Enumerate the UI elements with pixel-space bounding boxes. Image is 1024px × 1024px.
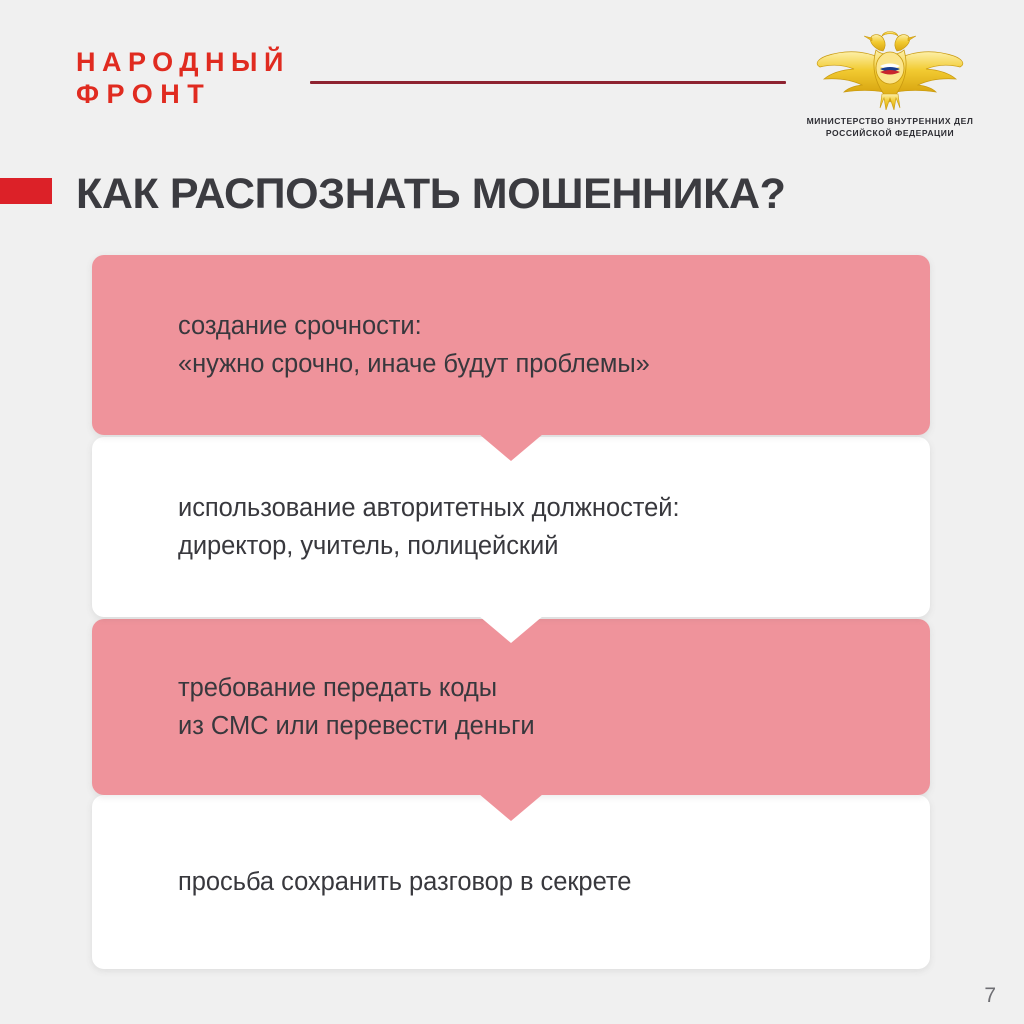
tip-card-1-text: создание срочности: «нужно срочно, иначе… (92, 307, 690, 384)
tips-card-stack: создание срочности: «нужно срочно, иначе… (0, 0, 1024, 1024)
tip-card-1-tail (479, 434, 543, 461)
tip-card-1[interactable]: создание срочности: «нужно срочно, иначе… (92, 255, 930, 435)
tip-card-2-text: использование авторитетных должностей: д… (92, 489, 720, 566)
tip-card-3[interactable]: требование передать коды из СМС или пере… (92, 619, 930, 795)
tip-card-3-tail (479, 794, 543, 821)
tip-card-3-text: требование передать коды из СМС или пере… (92, 669, 575, 746)
tip-card-2-tail (479, 616, 543, 643)
tip-card-4-text: просьба сохранить разговор в секрете (92, 863, 671, 901)
tip-card-4[interactable]: просьба сохранить разговор в секрете (92, 795, 930, 969)
tip-card-2[interactable]: использование авторитетных должностей: д… (92, 437, 930, 617)
page-number: 7 (984, 984, 996, 1008)
